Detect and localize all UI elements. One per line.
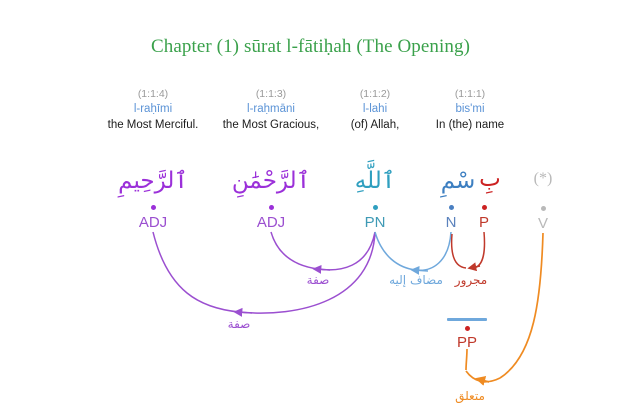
syntax-treebank-diagram: Chapter (1) sūrat l-fātiḥah (The Opening… <box>0 0 621 420</box>
page-title: Chapter (1) sūrat l-fātiḥah (The Opening… <box>0 36 621 58</box>
node-dot-1-1-1-prefix[interactable] <box>482 205 487 210</box>
translation-gloss: In (the) name <box>395 117 545 133</box>
relation-label-attachment[interactable]: متعلق <box>405 388 535 404</box>
node-dot-1-1-1-noun[interactable] <box>449 205 454 210</box>
node-dot-elided-verb[interactable] <box>541 206 546 211</box>
phrase-node-bar <box>447 318 487 321</box>
pp-node-connector <box>466 349 467 370</box>
relation-label-adjective-outer[interactable]: صفة <box>174 316 304 332</box>
pos-tag-elided-verb[interactable]: V <box>503 215 583 233</box>
node-dot-1-1-4[interactable] <box>151 205 156 210</box>
pos-tag-1-1-2[interactable]: PN <box>335 214 415 232</box>
arc-object-of-preposition[interactable] <box>452 232 485 268</box>
phrase-node-dot[interactable] <box>465 326 470 331</box>
relation-label-object-of-prep[interactable]: مجرور <box>406 272 536 288</box>
arc-genitive[interactable] <box>375 232 451 271</box>
dependency-arcs-layer <box>0 0 621 420</box>
verse-reference[interactable]: (1:1:1) <box>395 88 545 101</box>
node-dot-1-1-3[interactable] <box>269 205 274 210</box>
arc-adjective-inner[interactable] <box>271 232 375 270</box>
arc-attachment[interactable] <box>466 233 543 382</box>
transliteration[interactable]: bis'mi <box>395 101 545 117</box>
pos-tag-pp[interactable]: PP <box>427 334 507 352</box>
elided-verb-symbol: (*) <box>513 170 573 188</box>
word-column-1-1-1[interactable]: (1:1:1) bis'mi In (the) name <box>395 88 545 133</box>
node-dot-1-1-2[interactable] <box>373 205 378 210</box>
pos-tag-1-1-3[interactable]: ADJ <box>231 214 311 232</box>
pos-tag-1-1-4[interactable]: ADJ <box>113 214 193 232</box>
